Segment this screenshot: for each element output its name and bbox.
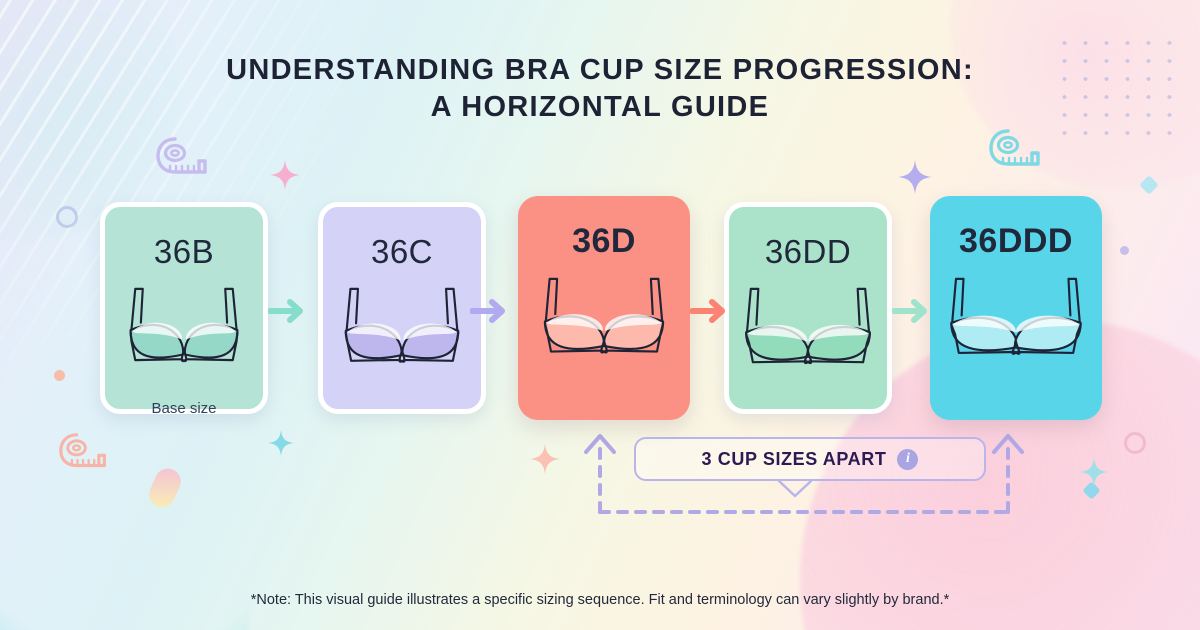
bra-icon xyxy=(941,273,1091,376)
arrow-36d-to-36dd-icon xyxy=(690,296,734,331)
size-card-36ddd[interactable]: 36DDD xyxy=(930,196,1102,420)
arrow-36b-to-36c-icon xyxy=(268,296,312,331)
callout-label: 3 CUP SIZES APART xyxy=(702,449,887,470)
size-card-36dd[interactable]: 36DD xyxy=(724,202,892,414)
footer-note: *Note: This visual guide illustrates a s… xyxy=(0,592,1200,608)
page-header: UNDERSTANDING BRA CUP SIZE PROGRESSION: … xyxy=(0,52,1200,126)
callout-notch xyxy=(779,481,811,496)
sparkle-icon-lavender xyxy=(898,160,932,194)
cup-sizes-apart-bracket xyxy=(0,414,1200,534)
arrow-36c-to-36d-icon xyxy=(470,296,514,331)
size-progression-row: 36BBase size36C36D36DD36DDD xyxy=(0,196,1200,428)
bra-icon xyxy=(327,283,477,386)
measuring-tape-icon-left xyxy=(155,136,211,185)
size-card-label: 36DD xyxy=(765,233,851,271)
size-card-36b[interactable]: 36BBase size xyxy=(100,202,268,414)
measuring-tape-icon-right xyxy=(988,128,1044,177)
size-card-label: 36C xyxy=(371,233,433,271)
page-title: UNDERSTANDING BRA CUP SIZE PROGRESSION: … xyxy=(0,52,1200,126)
size-card-36d[interactable]: 36D xyxy=(518,196,690,420)
size-card-label: 36DDD xyxy=(959,222,1073,261)
sparkle-icon-pink xyxy=(270,160,300,190)
bra-icon xyxy=(529,273,679,376)
arrow-36dd-to-36ddd-icon xyxy=(892,296,936,331)
bra-icon xyxy=(733,283,883,386)
size-card-label: 36B xyxy=(154,233,214,271)
callout-badge[interactable]: 3 CUP SIZES APART i xyxy=(634,437,986,481)
size-card-36c[interactable]: 36C xyxy=(318,202,486,414)
bra-icon xyxy=(109,283,259,386)
page-title-line-2: A HORIZONTAL GUIDE xyxy=(431,91,770,123)
page-title-line-1: UNDERSTANDING BRA CUP SIZE PROGRESSION: xyxy=(226,54,974,86)
info-icon[interactable]: i xyxy=(897,449,918,470)
size-card-sublabel: Base size xyxy=(151,400,216,417)
size-card-label: 36D xyxy=(572,222,636,261)
